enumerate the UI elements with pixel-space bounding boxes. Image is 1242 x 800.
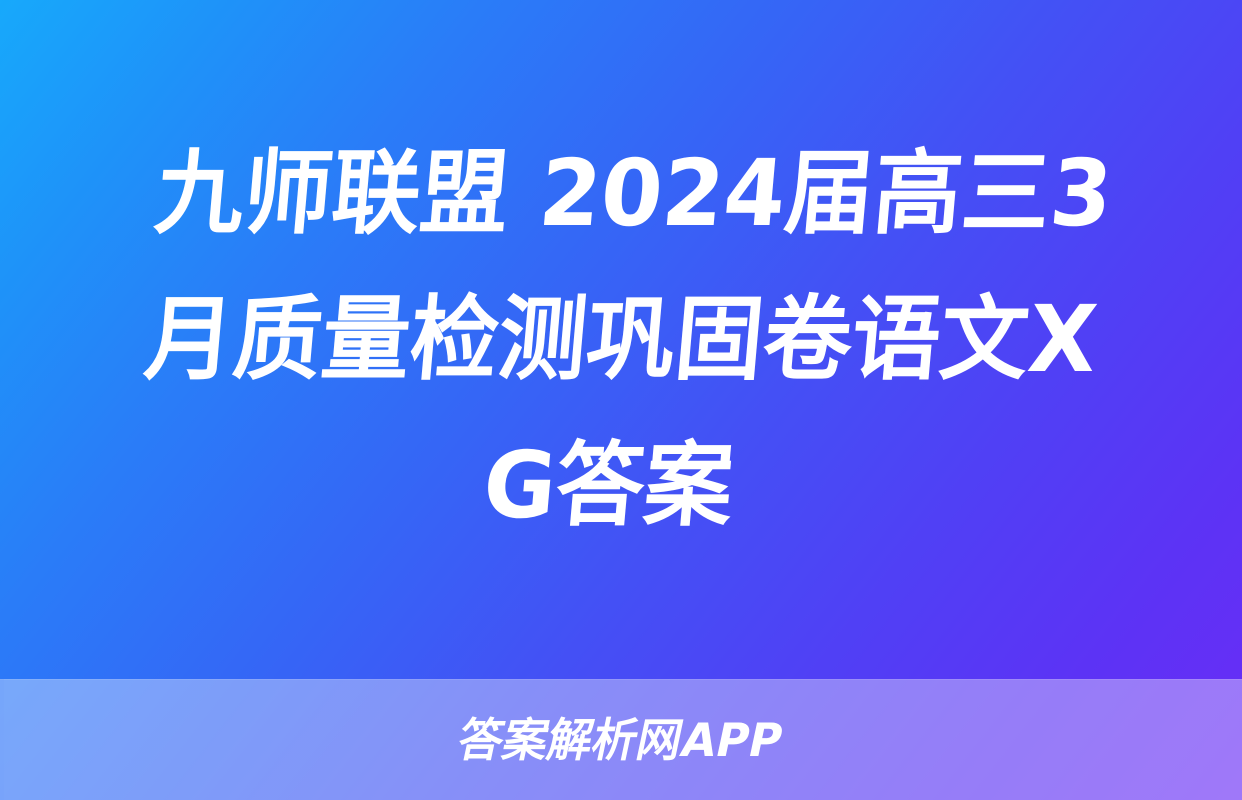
page-title: 九师联盟 2024届高三3月质量检测巩固卷语文XG答案 bbox=[105, 121, 1138, 559]
watermark-band: 答案解析网APP bbox=[0, 679, 1242, 800]
headline-region: 九师联盟 2024届高三3月质量检测巩固卷语文XG答案 bbox=[0, 0, 1242, 679]
app-watermark-label: 答案解析网APP bbox=[454, 714, 788, 766]
answer-banner-card: 九师联盟 2024届高三3月质量检测巩固卷语文XG答案 答案解析网APP bbox=[0, 0, 1242, 800]
